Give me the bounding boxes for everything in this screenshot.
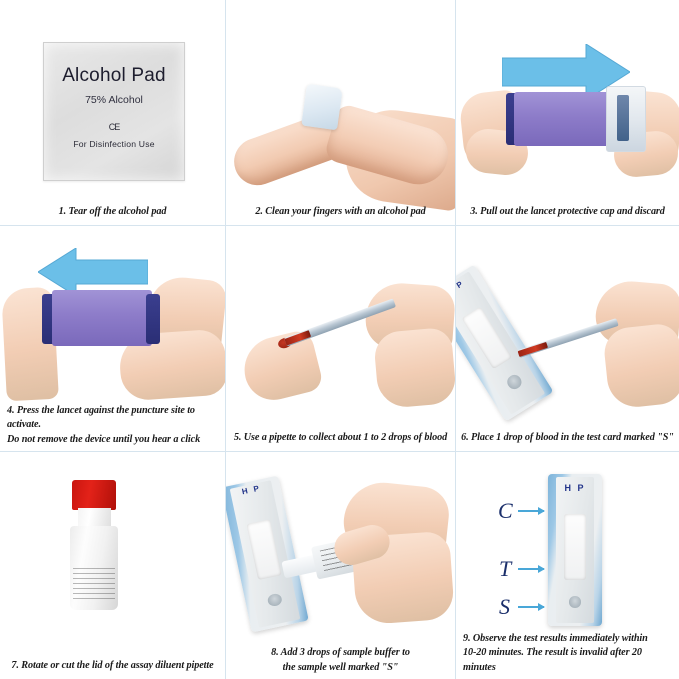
- control-line-arrow-icon: [518, 510, 544, 512]
- sample-well-arrow-icon: [518, 606, 544, 608]
- sample-well-marker: S: [499, 594, 510, 620]
- ce-mark-icon: CE: [44, 122, 184, 132]
- panel-6-caption: 6. Place 1 drop of blood in the test car…: [460, 431, 675, 446]
- alcohol-pad-pouch: Alcohol Pad 75% Alcohol CE For Disinfect…: [43, 42, 185, 181]
- panel-9-caption-line-2: 10-20 minutes. The result is invalid aft…: [463, 646, 675, 675]
- panel-3-illustration: [456, 0, 679, 177]
- panel-collect-blood: 5. Use a pipette to collect about 1 to 2…: [226, 226, 456, 452]
- panel-8-caption-line-1: 8. Add 3 drops of sample buffer to: [230, 646, 451, 661]
- panel-press-lancet: 4. Press the lancet against the puncture…: [0, 226, 226, 452]
- instruction-grid: Alcohol Pad 75% Alcohol CE For Disinfect…: [0, 0, 679, 679]
- panel-4-caption-line-2: Do not remove the device until you hear …: [7, 433, 221, 448]
- test-cassette-upright: H P: [548, 474, 602, 626]
- test-line-marker: T: [499, 556, 511, 582]
- diluent-bottle-label: [73, 568, 115, 600]
- panel-tear-off-alcohol-pad: Alcohol Pad 75% Alcohol CE For Disinfect…: [0, 0, 226, 226]
- control-line-marker: C: [498, 498, 513, 524]
- panel-7-illustration: [0, 452, 225, 631]
- cassette-brand-label: H P: [548, 483, 602, 493]
- lancet-device: [52, 290, 152, 346]
- panel-read-results: H P C T S 9. Observe the test results im…: [456, 452, 679, 679]
- panel-3-caption: 3. Pull out the lancet protective cap an…: [460, 205, 675, 220]
- panel-8-caption: 8. Add 3 drops of sample buffer to the s…: [230, 646, 451, 675]
- panel-9-caption: 9. Observe the test results immediately …: [460, 632, 675, 676]
- panel-8-illustration: H P: [226, 452, 455, 631]
- panel-pull-lancet-cap: 3. Pull out the lancet protective cap an…: [456, 0, 679, 226]
- lancet-end-right: [146, 294, 160, 344]
- panel-2-caption: 2. Clean your fingers with an alcohol pa…: [230, 205, 451, 220]
- hand-right-lower: [373, 327, 456, 410]
- panel-4-caption: 4. Press the lancet against the puncture…: [4, 404, 221, 448]
- panel-1-illustration: Alcohol Pad 75% Alcohol CE For Disinfect…: [0, 0, 225, 177]
- diluent-bottle-cap: [72, 480, 116, 510]
- pouch-use-text: For Disinfection Use: [44, 139, 184, 149]
- panel-9-illustration: H P C T S: [456, 452, 679, 631]
- panel-9-caption-line-1: 9. Observe the test results immediately …: [463, 632, 675, 647]
- pouch-concentration: 75% Alcohol: [44, 94, 184, 106]
- lancet-device: [514, 92, 612, 146]
- panel-4-illustration: [0, 226, 225, 403]
- result-window: [564, 514, 586, 581]
- test-line-arrow-icon: [518, 568, 544, 570]
- panel-add-buffer: H P 8. Add 3 drops of sample buffer: [226, 452, 456, 679]
- lancet-protective-cap: [606, 86, 646, 152]
- panel-1-caption: 1. Tear off the alcohol pad: [4, 205, 221, 220]
- sample-well: [569, 596, 582, 608]
- panel-apply-blood-to-card: H P 6. Place 1 drop of blood in the test…: [456, 226, 679, 452]
- panel-4-caption-line-1: 4. Press the lancet against the puncture…: [7, 404, 221, 433]
- hand-right-lower: [602, 322, 679, 410]
- arrow-left-icon: [38, 248, 148, 296]
- panel-open-diluent: 7. Rotate or cut the lid of the assay di…: [0, 452, 226, 679]
- panel-5-caption: 5. Use a pipette to collect about 1 to 2…: [230, 431, 451, 446]
- panel-clean-fingers: 2. Clean your fingers with an alcohol pa…: [226, 0, 456, 226]
- instruction-sheet: Alcohol Pad 75% Alcohol CE For Disinfect…: [0, 0, 679, 679]
- pouch-title: Alcohol Pad: [44, 65, 184, 87]
- panel-5-illustration: [226, 226, 455, 403]
- pipette: [517, 318, 618, 358]
- panel-8-caption-line-2: the sample well marked "S": [230, 661, 451, 676]
- alcohol-pad-wipe: [301, 84, 342, 131]
- panel-2-illustration: [226, 0, 455, 177]
- panel-6-illustration: H P: [456, 226, 679, 403]
- panel-7-caption: 7. Rotate or cut the lid of the assay di…: [4, 659, 221, 674]
